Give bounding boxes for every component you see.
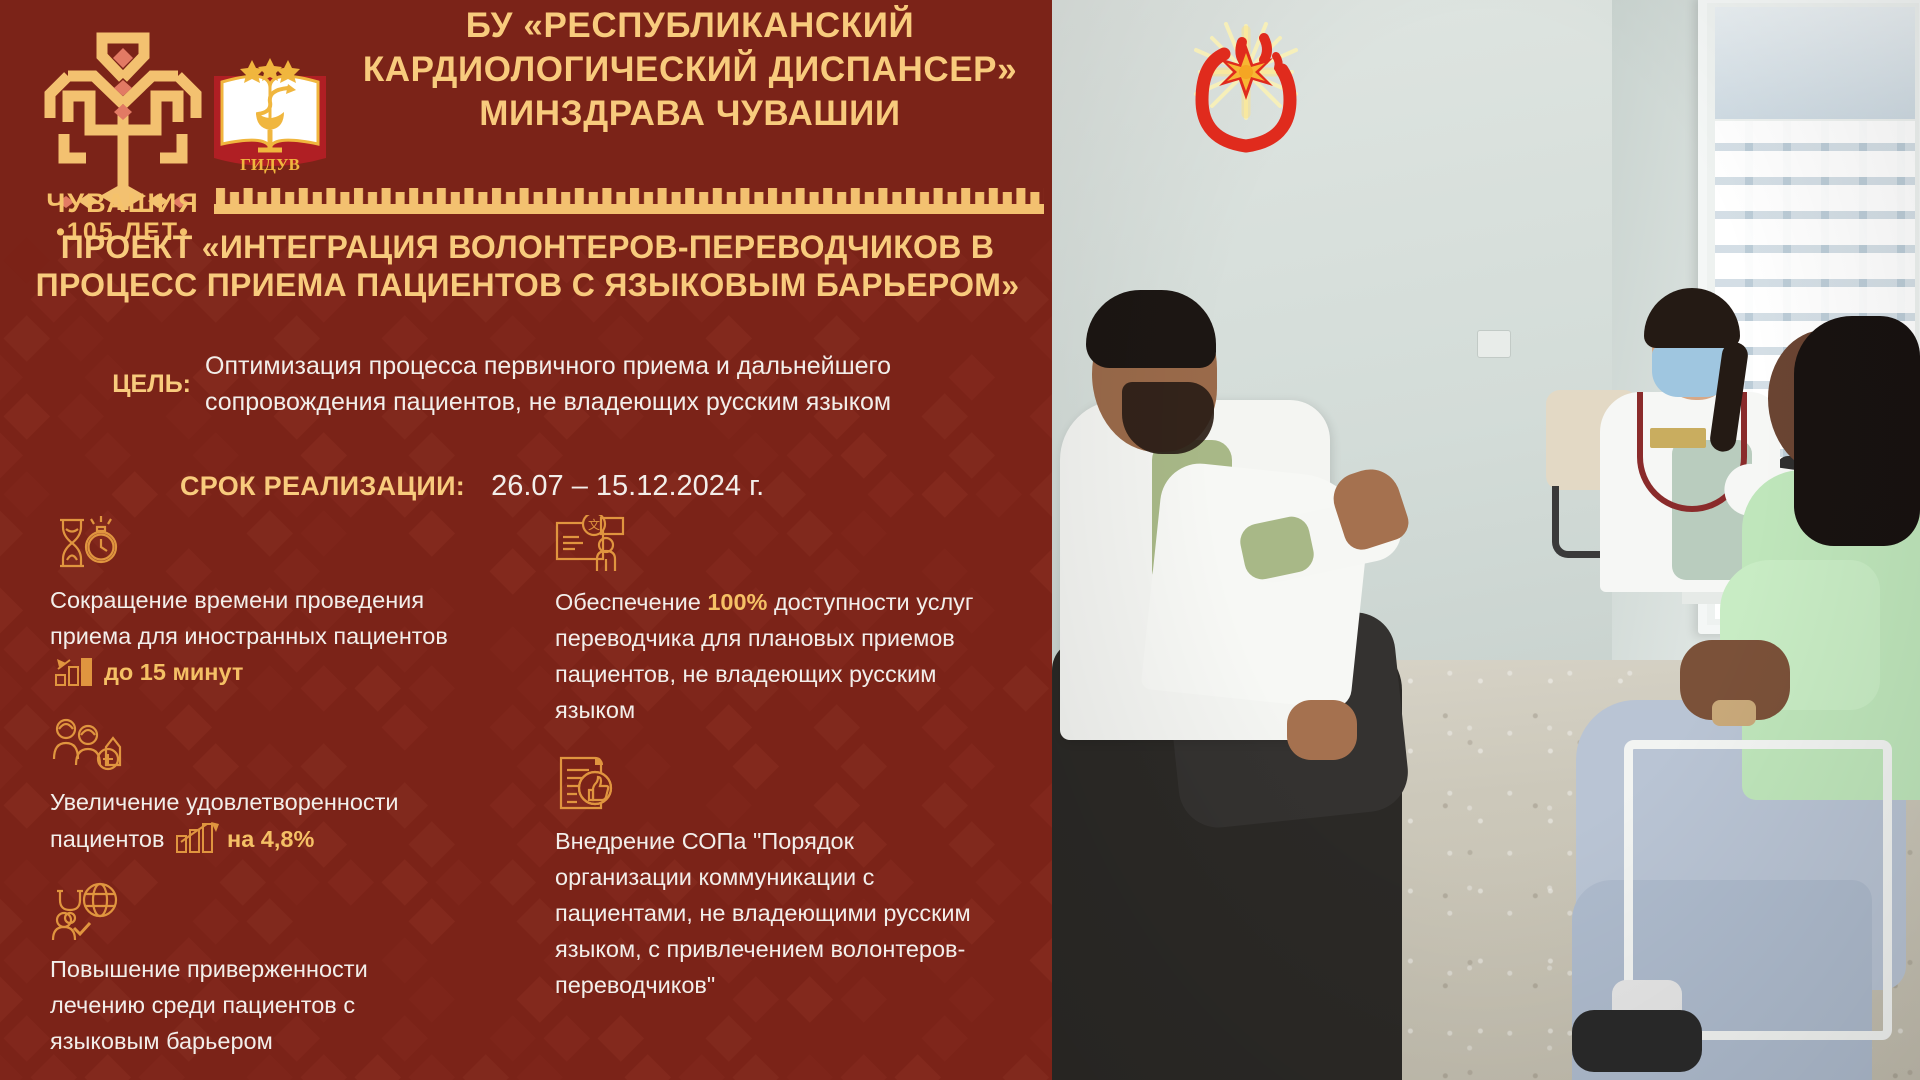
- chuvash-ornament-divider: [214, 188, 1044, 214]
- result-text: Сокращение времени проведения приема для…: [50, 582, 450, 697]
- result-text: Увеличение удовлетворенности пациентов н…: [50, 784, 450, 864]
- pattern-diamond: [1029, 782, 1052, 829]
- pattern-diamond: [3, 471, 50, 518]
- clinic-consultation-photo: [1052, 0, 1920, 1080]
- pattern-diamond: [543, 1015, 590, 1062]
- result-text-before: Увеличение удовлетворенности пациентов: [50, 789, 399, 852]
- results-column-right: 文 Обеспечение 100% доступности услуг пер…: [555, 515, 980, 1021]
- pattern-diamond: [1029, 315, 1052, 362]
- pattern-diamond: [489, 782, 536, 829]
- results-column-left: Сокращение времени проведения приема для…: [50, 515, 450, 1077]
- result-item: 文 Обеспечение 100% доступности услуг пер…: [555, 515, 980, 728]
- pattern-diamond: [1029, 471, 1052, 518]
- giduv-book-bowl-of-hygieia-icon: ГИДУВ: [200, 48, 340, 178]
- pattern-diamond: [1029, 393, 1052, 440]
- photo-man-hair: [1086, 290, 1216, 368]
- chuvashia-label: ЧУВАШИЯ: [18, 188, 228, 218]
- pattern-diamond: [0, 587, 24, 634]
- pattern-diamond: [3, 782, 50, 829]
- pattern-diamond: [3, 704, 50, 751]
- pattern-diamond: [1029, 626, 1052, 673]
- pattern-diamond: [1029, 548, 1052, 595]
- photo-nurse-badge: [1650, 428, 1706, 448]
- pattern-diamond: [921, 1015, 968, 1062]
- pattern-diamond: [840, 432, 887, 479]
- photo-wall-switch: [1477, 330, 1511, 358]
- goal-block: ЦЕЛЬ: Оптимизация процесса первичного пр…: [95, 348, 1025, 420]
- pattern-diamond: [0, 665, 24, 712]
- bar-chart-up-arrow-icon: [175, 820, 223, 864]
- pattern-diamond: [1002, 1054, 1049, 1080]
- pattern-diamond: [84, 432, 131, 479]
- pattern-diamond: [921, 471, 968, 518]
- result-text: Повышение приверженности лечению среди п…: [50, 951, 450, 1059]
- pattern-diamond: [489, 704, 536, 751]
- pattern-diamond: [0, 976, 24, 1023]
- pattern-diamond: [489, 626, 536, 673]
- term-label: СРОК РЕАЛИЗАЦИИ:: [180, 471, 465, 502]
- hourglass-stopwatch-icon: [50, 515, 450, 576]
- pattern-diamond: [3, 1015, 50, 1062]
- pattern-diamond: [489, 860, 536, 907]
- pattern-diamond: [1029, 1015, 1052, 1062]
- pattern-diamond: [975, 471, 1022, 518]
- pattern-diamond: [840, 1054, 887, 1080]
- result-text-before: Обеспечение: [555, 589, 707, 615]
- result-item: Повышение приверженности лечению среди п…: [50, 882, 450, 1059]
- project-title: ПРОЕКТ «ИНТЕГРАЦИЯ ВОЛОНТЕРОВ-ПЕРЕВОДЧИК…: [20, 228, 1035, 304]
- svg-text:ГИДУВ: ГИДУВ: [240, 155, 300, 174]
- pattern-diamond: [786, 432, 833, 479]
- pattern-diamond: [624, 1054, 671, 1080]
- pattern-diamond: [678, 1054, 725, 1080]
- patients-satisfaction-growth-icon: [50, 715, 450, 778]
- photo-man-resting-hand: [1287, 700, 1357, 760]
- pattern-diamond: [3, 937, 50, 984]
- pattern-diamond: [705, 1015, 752, 1062]
- document-thumbs-up-icon: [555, 754, 980, 817]
- pattern-diamond: [1029, 937, 1052, 984]
- result-item: Внедрение СОПа "Порядок организации комм…: [555, 754, 980, 1003]
- photo-patient-watch: [1712, 700, 1756, 726]
- pattern-diamond: [3, 315, 50, 362]
- photo-patient-hair: [1794, 316, 1920, 546]
- pattern-diamond: [597, 1015, 644, 1062]
- result-text: Внедрение СОПа "Порядок организации комм…: [555, 823, 980, 1003]
- pattern-diamond: [786, 1054, 833, 1080]
- result-item: Сокращение времени проведения приема для…: [50, 515, 450, 697]
- pattern-diamond: [111, 471, 158, 518]
- pattern-diamond: [1029, 860, 1052, 907]
- pattern-diamond: [0, 432, 24, 479]
- pattern-diamond: [1002, 665, 1049, 712]
- pattern-diamond: [3, 626, 50, 673]
- svg-text:文: 文: [588, 517, 600, 532]
- goal-label: ЦЕЛЬ:: [95, 370, 205, 399]
- translator-screen-person-icon: 文: [555, 515, 980, 578]
- result-highlight: до 15 минут: [104, 659, 243, 685]
- organization-title: БУ «РЕСПУБЛИКАНСКИЙ КАРДИОЛОГИЧЕСКИЙ ДИС…: [360, 4, 1020, 136]
- pattern-diamond: [0, 1054, 24, 1080]
- pattern-diamond: [3, 393, 50, 440]
- pattern-diamond: [462, 1054, 509, 1080]
- result-highlight: на 4,8%: [227, 826, 314, 852]
- pattern-diamond: [759, 471, 806, 518]
- pattern-diamond: [0, 898, 24, 945]
- result-text-before: Сокращение времени проведения приема для…: [50, 587, 448, 649]
- result-highlight: 100%: [707, 589, 767, 615]
- info-panel: ЧУВАШИЯ •105 ЛЕТ• ГИДУ: [0, 0, 1052, 1080]
- pattern-diamond: [489, 1015, 536, 1062]
- photo-window-glass: [1715, 7, 1915, 119]
- pattern-diamond: [0, 354, 24, 401]
- result-item: Увеличение удовлетворенности пациентов н…: [50, 715, 450, 864]
- pattern-diamond: [3, 860, 50, 907]
- pattern-diamond: [948, 432, 995, 479]
- pattern-diamond: [867, 471, 914, 518]
- goal-text: Оптимизация процесса первичного приема и…: [205, 348, 1025, 420]
- term-value: 26.07 – 15.12.2024 г.: [491, 470, 764, 503]
- stethoscope-globe-person-icon: [50, 882, 450, 945]
- pattern-diamond: [894, 1054, 941, 1080]
- bar-chart-down-icon: [54, 657, 100, 697]
- pattern-diamond: [0, 510, 24, 557]
- pattern-diamond: [732, 1054, 779, 1080]
- pattern-diamond: [489, 548, 536, 595]
- result-text: Обеспечение 100% доступности услуг перев…: [555, 584, 980, 728]
- poster-root: ЧУВАШИЯ •105 ЛЕТ• ГИДУ: [0, 0, 1920, 1080]
- photo-patient-shoe: [1572, 1010, 1702, 1072]
- cardiology-heart-star-icon: [1180, 20, 1312, 160]
- pattern-diamond: [0, 743, 24, 790]
- term-block: СРОК РЕАЛИЗАЦИИ: 26.07 – 15.12.2024 г.: [180, 470, 764, 503]
- photo-man-beard: [1122, 382, 1214, 454]
- pattern-diamond: [975, 860, 1022, 907]
- pattern-diamond: [516, 1054, 563, 1080]
